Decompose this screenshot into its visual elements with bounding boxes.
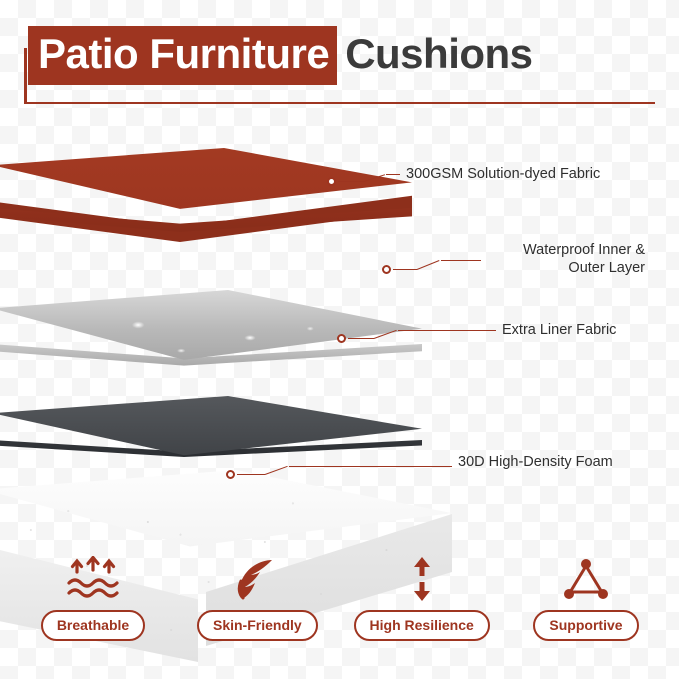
callout-foam-leader-a (237, 474, 265, 475)
callout-fabric-label: 300GSM Solution-dyed Fabric (406, 165, 600, 184)
callout-waterproof-label-line1: Waterproof Inner & (362, 241, 645, 260)
resilience-arrows-icon (401, 556, 443, 602)
callout-liner-leader-a (348, 338, 374, 339)
feather-icon (230, 556, 284, 602)
feature-skin-friendly: Skin-Friendly (182, 556, 332, 656)
callout-fabric-dot (327, 177, 336, 186)
title-highlight: Patio Furniture (28, 26, 337, 85)
waterproof-layer-top (0, 290, 422, 382)
infographic-page: Patio Furniture Cushions 300GSM Solution… (0, 0, 679, 679)
callout-waterproof-label-line2: Outer Layer (362, 259, 645, 278)
exploded-cushion-diagram (0, 130, 462, 550)
feature-high-resilience: High Resilience (347, 556, 497, 656)
callout-foam-label: 30D High-Density Foam (458, 453, 613, 472)
title-rest: Cushions (337, 26, 538, 85)
feature-high-resilience-label: High Resilience (354, 610, 490, 641)
feature-breathable: Breathable (18, 556, 168, 656)
callout-foam-leader-c (289, 466, 452, 467)
callout-fabric-leader-c (386, 174, 400, 175)
callout-liner-dot (337, 334, 346, 343)
title-row: Patio Furniture Cushions (28, 26, 539, 85)
feature-supportive: Supportive (511, 556, 661, 656)
feature-badges: Breathable Skin-Friendly High Re (0, 556, 679, 656)
breathable-icon (63, 556, 123, 602)
callout-liner-label: Extra Liner Fabric (502, 321, 616, 340)
feature-skin-friendly-label: Skin-Friendly (197, 610, 318, 641)
liner-layer-top (0, 396, 422, 474)
title-underline (24, 102, 655, 104)
feature-breathable-label: Breathable (41, 610, 145, 641)
title-block: Patio Furniture Cushions (0, 22, 679, 84)
callout-foam-dot (226, 470, 235, 479)
callout-fabric-leader-a (338, 181, 364, 182)
feature-supportive-label: Supportive (533, 610, 638, 641)
title-left-rule (24, 48, 27, 102)
callout-liner-leader-c (398, 330, 496, 331)
support-triangle-icon (560, 556, 612, 602)
